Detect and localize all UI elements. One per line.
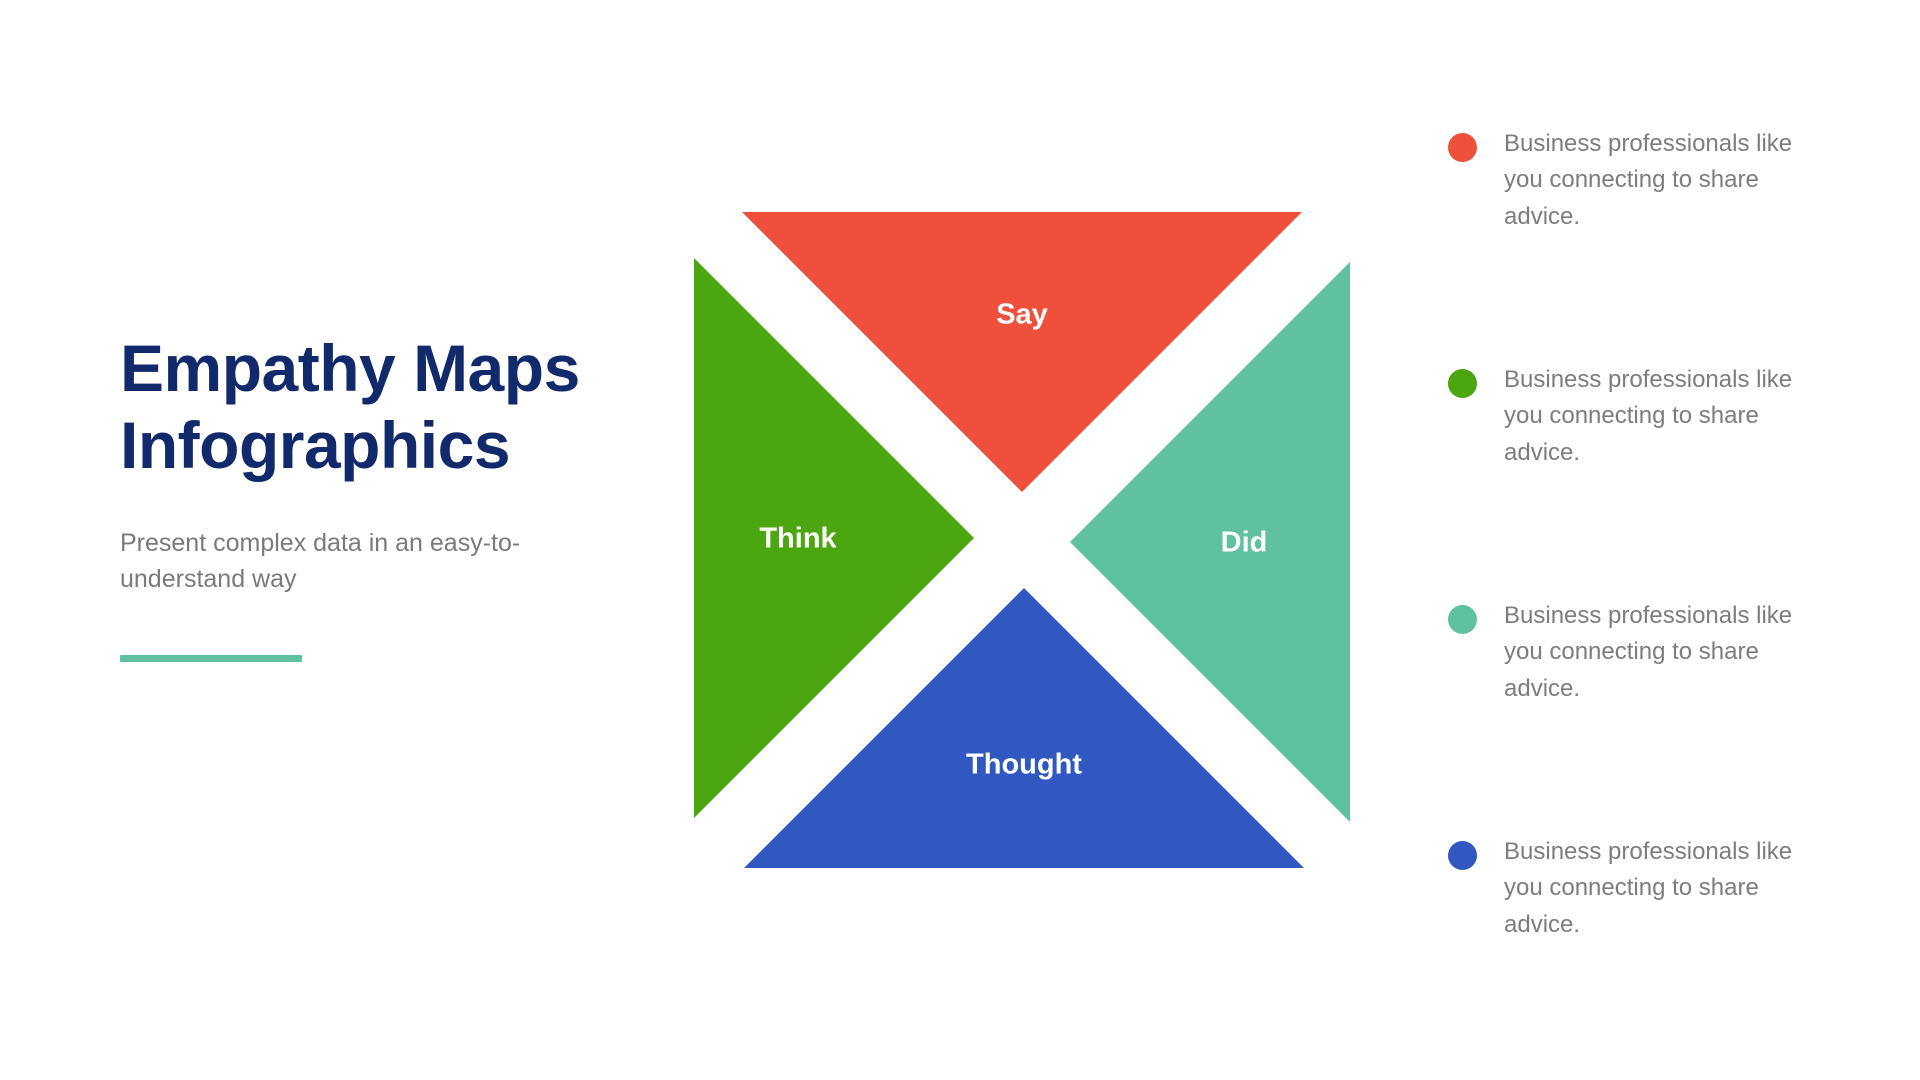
legend-dot-icon <box>1448 841 1477 870</box>
legend-item-thought[interactable]: Business professionals like you connecti… <box>1448 834 1808 1070</box>
wedge-label-say: Say <box>996 299 1048 331</box>
legend-item-text: Business professionals like you connecti… <box>1504 126 1804 235</box>
wedge-label-did: Did <box>1221 527 1268 559</box>
empathy-map-diagram: Say Think Did Thought <box>680 196 1370 886</box>
page-title: Empathy Maps Infographics <box>120 330 630 484</box>
page-subtitle: Present complex data in an easy-to-under… <box>120 526 590 597</box>
wedge-label-think: Think <box>759 523 837 555</box>
legend-item-text: Business professionals like you connecti… <box>1504 362 1804 471</box>
legend-item-text: Business professionals like you connecti… <box>1504 834 1804 943</box>
wedge-label-thought: Thought <box>966 749 1082 781</box>
legend-item-did[interactable]: Business professionals like you connecti… <box>1448 598 1808 834</box>
legend-dot-icon <box>1448 133 1477 162</box>
legend-dot-icon <box>1448 605 1477 634</box>
legend-list: Business professionals like you connecti… <box>1448 126 1808 1070</box>
legend-dot-icon <box>1448 369 1477 398</box>
legend-item-text: Business professionals like you connecti… <box>1504 598 1804 707</box>
left-text-panel: Empathy Maps Infographics Present comple… <box>120 330 630 662</box>
title-divider <box>120 655 302 662</box>
legend-item-say[interactable]: Business professionals like you connecti… <box>1448 126 1808 362</box>
legend-item-think[interactable]: Business professionals like you connecti… <box>1448 362 1808 598</box>
slide-canvas: Empathy Maps Infographics Present comple… <box>0 0 1920 1080</box>
empathy-map-svg: Say Think Did Thought <box>680 196 1370 886</box>
